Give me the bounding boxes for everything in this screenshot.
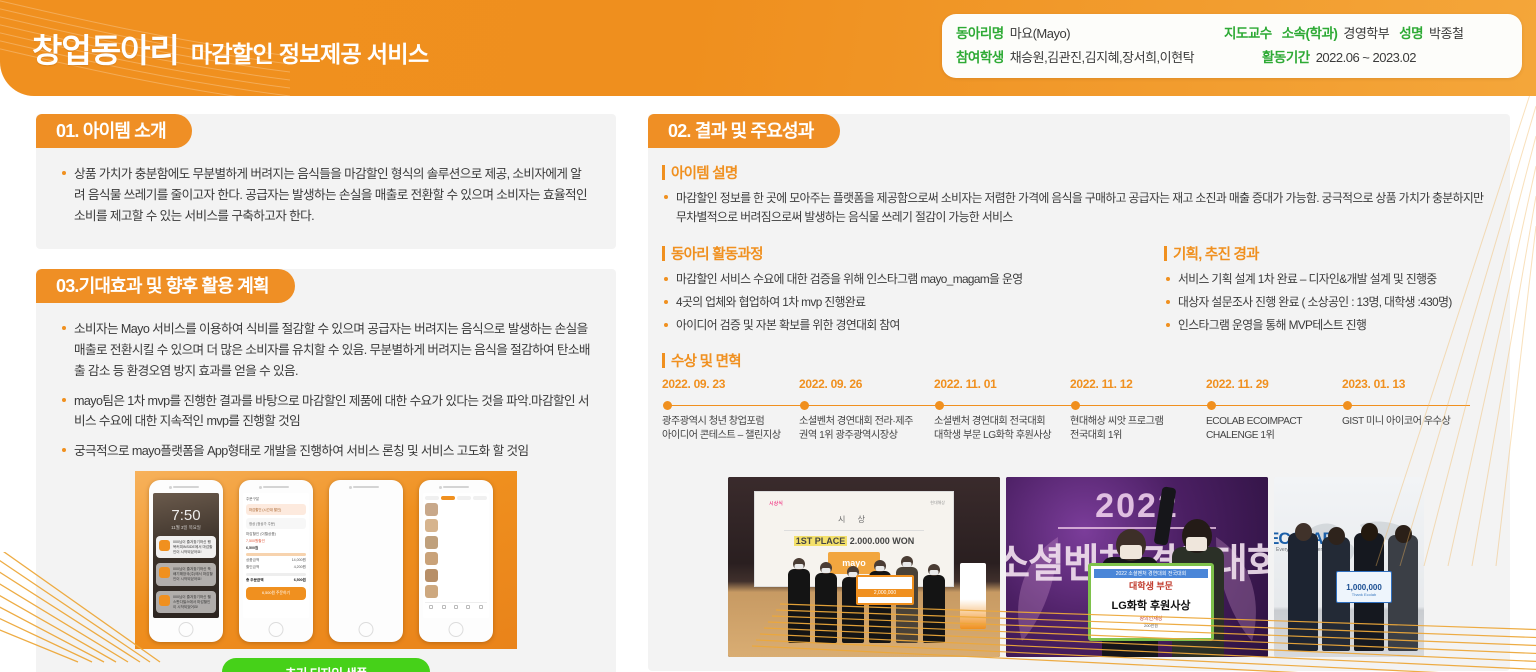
notification-item: 000님이 즐겨찾기하신 행복커피INSIDE에서 마감할인이 시작되었어요!	[156, 536, 216, 559]
thumbnail	[425, 585, 438, 598]
order-option-normal: 정상 (정상가 주문)	[246, 518, 306, 529]
home-icon[interactable]	[429, 605, 433, 609]
person-head	[1361, 523, 1378, 541]
person	[1288, 533, 1318, 651]
divider	[784, 530, 924, 531]
summary-label: 상품금액	[246, 558, 259, 563]
section-03-panel: 03.기대효과 및 향후 활용 계획 소비자는 Mayo 서비스를 이용하여 식…	[36, 269, 616, 672]
section-01-bullets: 상품 가치가 충분함에도 무분별하게 버려지는 음식들을 마감할인 형식의 솔루…	[36, 148, 616, 226]
face-mask	[1120, 545, 1142, 559]
place-label: 1ST PLACE	[794, 536, 848, 546]
person-head	[1395, 525, 1412, 543]
mayo-app-icon	[159, 540, 170, 551]
divider	[246, 573, 306, 576]
timeline-item: 2022. 11. 29 ECOLAB ECOIMPACT CHALENGE 1…	[1206, 377, 1346, 391]
award-board: 2022 소셜벤처 경연대회 전국대회 대학생 부문 LG화학 후원사상 창의인…	[1088, 563, 1214, 641]
event-banner	[960, 563, 986, 629]
board-top-text: 2022 소셜벤처 경연대회 전국대회	[1094, 569, 1208, 578]
board-amount: 200만원	[1094, 623, 1208, 629]
prize-check: 1,000,000 Thank Ecolab	[1336, 571, 1392, 603]
timeline-desc: 소셜벤처 경연대회 전라·제주 권역 1위 광주광역시장상	[799, 415, 937, 445]
person	[1388, 535, 1418, 651]
list-item: 인스타그램 운영을 통해 MVP테스트 진행	[1164, 316, 1490, 335]
subsection-label: 수상 및 면혁	[671, 350, 741, 371]
option-label: 정상 (정상가 주문)	[249, 522, 275, 526]
timeline-dot-icon	[663, 401, 672, 410]
section-03-title: 03.기대효과 및 향후 활용 계획	[36, 269, 295, 303]
summary-value: 4,200원	[294, 565, 306, 570]
timeline-desc: 광주광역시 청년 창업포럼 아이디어 콘테스트 – 챌린지상	[662, 415, 800, 445]
check-sub: Thank Ecolab	[1337, 592, 1391, 597]
speaker-notch-icon	[263, 486, 289, 489]
phone-mockup-map: 행복커피 뚝배기해장국 헬스판다 치킨마루	[329, 480, 403, 642]
summary-row: 상품금액 14,000원	[246, 558, 306, 563]
timeline-desc: ECOLAB ECOIMPACT CHALENGE 1위	[1206, 415, 1344, 445]
mockup-caption: 초기 디자인 샘플	[222, 658, 430, 672]
check-amount: 1,000,000	[1337, 583, 1391, 592]
club-value: 마요(Mayo)	[1010, 23, 1070, 42]
item-price: 6,500원	[246, 546, 306, 551]
mayo-app-icon	[159, 567, 170, 578]
item-name: 7,500원할인	[246, 539, 306, 544]
notification-item: 000님이 즐겨찾기하신 뚝배기해장국(주)에서 마감할인이 시작되었어요!	[156, 563, 216, 586]
option-label: 마감할인 (시간대 할인)	[249, 508, 281, 512]
screen-title: 시 상	[755, 514, 953, 525]
speaker-notch-icon	[353, 486, 379, 489]
total-row: 총 주문금액 6,500원	[246, 578, 306, 583]
board-award: LG화학 후원사상	[1094, 597, 1208, 613]
person	[788, 569, 810, 643]
list-item[interactable]	[425, 536, 487, 549]
left-column: 01. 아이템 소개 상품 가치가 충분함에도 무분별하게 버려지는 음식들을 …	[36, 114, 616, 644]
list-item[interactable]	[425, 519, 487, 532]
subsection-label: 동아리 활동과정	[671, 243, 763, 264]
accent-bar-icon	[662, 165, 665, 180]
summary-value: 14,000원	[292, 558, 306, 563]
home-button-icon	[359, 622, 374, 637]
subsection-item-bullets: 마감할인 정보를 한 곳에 모아주는 플랫폼을 제공함으로써 소비자는 저렴한 …	[662, 189, 1490, 227]
period-label: 활동기간	[1262, 46, 1310, 66]
section-02-panel: 02. 결과 및 주요성과 아이템 설명 마감할인 정보를 한 곳에 모아주는 …	[648, 114, 1510, 671]
list-item[interactable]	[425, 585, 487, 598]
mayo-app-icon	[159, 595, 170, 606]
list-screen	[423, 493, 489, 618]
list-item: 소비자는 Mayo 서비스를 이용하여 식비를 절감할 수 있으며 공급자는 버…	[60, 319, 594, 381]
award-ceremony-photo: 시상식 현대해상 시 상 1ST PLACE 2.000.000 WON may…	[728, 477, 1000, 657]
timeline-item: 2022. 11. 12 현대해상 씨앗 프로그램 전국대회 1위	[1070, 377, 1210, 391]
total-label: 총 주문금액	[246, 578, 264, 583]
name-label: 성명	[1399, 22, 1423, 42]
thumbnail	[425, 536, 438, 549]
list-item[interactable]	[425, 569, 487, 582]
phone-mockups-band: 7:50 11월 3일 목요일 000님이 즐겨찾기하신 행복커피INSIDE에…	[135, 471, 517, 649]
notification-text: 000님이 즐겨찾기하신 뚝배기해장국(주)에서 마감할인이 시작되었어요!	[173, 567, 213, 581]
poster-root: 창업동아리 마감할인 정보제공 서비스 동아리명 마요(Mayo) 지도교수 소…	[0, 0, 1536, 672]
students-value: 채승원,김관진,김지혜,장서희,이현탁	[1010, 47, 1194, 66]
list-item: 서비스 기획 설계 1차 완료 – 디자인&개발 설계 및 진행중	[1164, 270, 1490, 289]
period-value: 2022.06 ~ 2023.02	[1316, 50, 1416, 65]
home-button-icon	[179, 622, 194, 637]
speaker-notch-icon	[443, 486, 469, 489]
subsection-item-title: 아이템 설명	[662, 162, 1490, 183]
item-label: 마감할인 (이월상품)	[246, 532, 306, 537]
timeline-date: 2022. 09. 23	[662, 377, 802, 391]
screen-place-amount: 1ST PLACE 2.000.000 WON	[755, 536, 953, 546]
phone-mockup-lockscreen: 7:50 11월 3일 목요일 000님이 즐겨찾기하신 행복커피INSIDE에…	[149, 480, 223, 642]
board-category: 대학생 부문	[1094, 579, 1208, 592]
dept-value: 경영학부	[1343, 23, 1389, 42]
notification-text: 000님이 즐겨찾기하신 행복커피INSIDE에서 마감할인이 시작되었어요!	[173, 540, 212, 554]
list-item[interactable]	[425, 552, 487, 565]
total-value: 6,500원	[294, 578, 306, 583]
lock-date: 11월 3일 목요일	[153, 525, 219, 531]
phone-mockup-list	[419, 480, 493, 642]
lock-time: 7:50	[153, 507, 219, 524]
amount-label: 2.000.000 WON	[850, 536, 915, 546]
order-title: 주문구분	[246, 497, 306, 502]
section-01-title: 01. 아이템 소개	[36, 114, 192, 148]
check-amount: 2,000,000	[858, 589, 912, 597]
search-icon[interactable]	[454, 605, 458, 609]
list-item: 상품 가치가 충분함에도 무분별하게 버려지는 음식들을 마감할인 형식의 솔루…	[60, 164, 592, 226]
right-column: 02. 결과 및 주요성과 아이템 설명 마감할인 정보를 한 곳에 모아주는 …	[648, 114, 1510, 644]
notification-text: 000님이 즐겨찾기하신 헬스판다빌스에서 마감할인이 시작되었어요!	[173, 595, 211, 609]
timeline-date: 2022. 11. 01	[934, 377, 1074, 391]
person-head	[1295, 523, 1312, 541]
subsection-awards-title: 수상 및 면혁	[662, 350, 1490, 371]
tab[interactable]	[425, 496, 439, 500]
board-sub: 창의인재상	[1094, 615, 1208, 622]
pay-button[interactable]: 6,500원 주문하기	[246, 587, 306, 600]
list-item: mayo팀은 1차 mvp를 진행한 결과를 바탕으로 마감할인 제품에 대한 …	[60, 391, 594, 433]
timeline-dot-icon	[1071, 401, 1080, 410]
camera-dot-icon	[439, 486, 442, 489]
timeline-desc: 소셜벤처 경연대회 전국대회 대학생 부문 LG화학 후원사상	[934, 415, 1072, 445]
thumbnail	[425, 552, 438, 565]
thumbnail	[425, 503, 438, 516]
name-value: 박종철	[1429, 23, 1463, 42]
timeline-item: 2022. 11. 01 소셜벤처 경연대회 전국대회 대학생 부문 LG화학 …	[934, 377, 1074, 391]
list-item: 대상자 설문조사 진행 완료 ( 소상공인 : 13명, 대학생 :430명)	[1164, 293, 1490, 312]
timeline-desc: 현대해상 씨앗 프로그램 전국대회 1위	[1070, 415, 1208, 445]
timeline-dot-icon	[1343, 401, 1352, 410]
subsection-activity-bullets: 마감할인 서비스 수요에 대한 검증을 위해 인스타그램 mayo_magam을…	[662, 270, 1138, 335]
phone-mockup-order: 주문구분 마감할인 (시간대 할인) 정상 (정상가 주문) 마감할인 (이월상…	[239, 480, 313, 642]
list-icon[interactable]	[466, 605, 470, 609]
screen-tag-right: 현대해상	[930, 500, 945, 506]
order-option-discount: 마감할인 (시간대 할인)	[246, 504, 306, 515]
divider	[246, 553, 306, 556]
ecolab-photo: ECOLAB Everywhere It Matters. 1,000,000 …	[1274, 477, 1424, 657]
home-button-icon	[269, 622, 284, 637]
awards-timeline: 2022. 09. 23 광주광역시 청년 창업포럼 아이디어 콘테스트 – 챌…	[662, 377, 1490, 469]
person	[923, 575, 945, 643]
list-item: 아이디어 검증 및 자본 확보를 위한 경연대회 참여	[662, 316, 1138, 335]
accent-bar-icon	[1164, 246, 1167, 261]
timeline-item: 2023. 01. 13 GIST 미니 아이코어 우수상	[1342, 377, 1482, 391]
section-02-title: 02. 결과 및 주요성과	[648, 114, 840, 148]
list-item[interactable]	[425, 503, 487, 516]
subsection-label: 아이템 설명	[671, 162, 738, 183]
timeline-dot-icon	[1207, 401, 1216, 410]
timeline-date: 2022. 11. 29	[1206, 377, 1346, 391]
speaker-notch-icon	[173, 486, 199, 489]
person	[815, 573, 837, 643]
timeline-date: 2023. 01. 13	[1342, 377, 1482, 391]
subsection-activity-title: 동아리 활동과정	[662, 243, 1138, 264]
summary-label: 할인금액	[246, 565, 259, 570]
face-mask	[1186, 537, 1207, 551]
profile-icon[interactable]	[479, 605, 483, 609]
timeline-date: 2022. 11. 12	[1070, 377, 1210, 391]
award-photos: 시상식 현대해상 시 상 1ST PLACE 2.000.000 WON may…	[648, 477, 1510, 657]
subsection-label: 기획, 추진 경과	[1173, 243, 1259, 264]
heart-icon[interactable]	[442, 605, 446, 609]
accent-bar-icon	[662, 353, 665, 368]
notification-item: 000님이 즐겨찾기하신 헬스판다빌스에서 마감할인이 시작되었어요!	[156, 591, 216, 614]
camera-dot-icon	[169, 486, 172, 489]
camera-dot-icon	[259, 486, 262, 489]
prize-check: 2,000,000	[856, 575, 914, 605]
timeline-item: 2022. 09. 26 소셜벤처 경연대회 전라·제주 권역 1위 광주광역시…	[799, 377, 939, 391]
timeline-dot-icon	[800, 401, 809, 410]
summary-row: 할인금액 4,200원	[246, 565, 306, 570]
tab-active[interactable]	[441, 496, 455, 500]
info-row-2: 참여학생 채승원,김관진,김지혜,장서희,이현탁 활동기간 2022.06 ~ …	[956, 46, 1508, 70]
timeline-date: 2022. 09. 26	[799, 377, 939, 391]
info-row-1: 동아리명 마요(Mayo) 지도교수 소속(학과) 경영학부 성명 박종철	[956, 22, 1508, 46]
poster-title: 창업동아리 마감할인 정보제공 서비스	[32, 24, 429, 72]
person-head	[1328, 527, 1345, 545]
students-label: 참여학생	[956, 46, 1004, 66]
subsection-plan-title: 기획, 추진 경과	[1164, 243, 1490, 264]
home-button-icon	[449, 622, 464, 637]
dept-label: 소속(학과)	[1282, 22, 1338, 42]
list-item: 마감할인 서비스 수요에 대한 검증을 위해 인스타그램 mayo_magam을…	[662, 270, 1138, 289]
list-item: 마감할인 정보를 한 곳에 모아주는 플랫폼을 제공함으로써 소비자는 저렴한 …	[662, 189, 1490, 227]
timeline-dot-icon	[935, 401, 944, 410]
list-item: 4곳의 업체와 협업하여 1차 mvp 진행완료	[662, 293, 1138, 312]
header-info-box: 동아리명 마요(Mayo) 지도교수 소속(학과) 경영학부 성명 박종철 참여…	[942, 14, 1522, 78]
timeline-desc: GIST 미니 아이코어 우수상	[1342, 415, 1480, 430]
social-venture-photo: 2022 소셜벤처 경연대회 2022 소셜벤처 경연대회 전국대회 대학생 부…	[1006, 477, 1268, 657]
accent-bar-icon	[662, 246, 665, 261]
mockup-section: 7:50 11월 3일 목요일 000님이 즐겨찾기하신 행복커피INSIDE에…	[36, 471, 616, 672]
section-01-panel: 01. 아이템 소개 상품 가치가 충분함에도 무분별하게 버려지는 음식들을 …	[36, 114, 616, 249]
tab[interactable]	[473, 496, 487, 500]
bottom-nav-bar[interactable]	[425, 602, 487, 609]
screen-tag-left: 시상식	[769, 500, 783, 507]
lockscreen-screen: 7:50 11월 3일 목요일 000님이 즐겨찾기하신 행복커피INSIDE에…	[153, 493, 219, 618]
title-sub: 마감할인 정보제공 서비스	[191, 35, 429, 69]
camera-dot-icon	[349, 486, 352, 489]
order-screen: 주문구분 마감할인 (시간대 할인) 정상 (정상가 주문) 마감할인 (이월상…	[243, 493, 309, 618]
category-tabs[interactable]	[425, 496, 487, 500]
title-main: 창업동아리	[32, 24, 179, 72]
professor-label: 지도교수	[1224, 22, 1272, 42]
timeline-item: 2022. 09. 23 광주광역시 청년 창업포럼 아이디어 콘테스트 – 챌…	[662, 377, 802, 391]
section-03-bullets: 소비자는 Mayo 서비스를 이용하여 식비를 절감할 수 있으며 공급자는 버…	[36, 303, 616, 462]
tab[interactable]	[457, 496, 471, 500]
thumbnail	[425, 569, 438, 582]
subsection-plan-bullets: 서비스 기획 설계 1차 완료 – 디자인&개발 설계 및 진행중 대상자 설문…	[1164, 270, 1490, 335]
thumbnail	[425, 519, 438, 532]
list-item: 궁극적으로 mayo플랫폼을 App형태로 개발을 진행하여 서비스 론칭 및 …	[60, 441, 594, 462]
club-label: 동아리명	[956, 22, 1004, 42]
